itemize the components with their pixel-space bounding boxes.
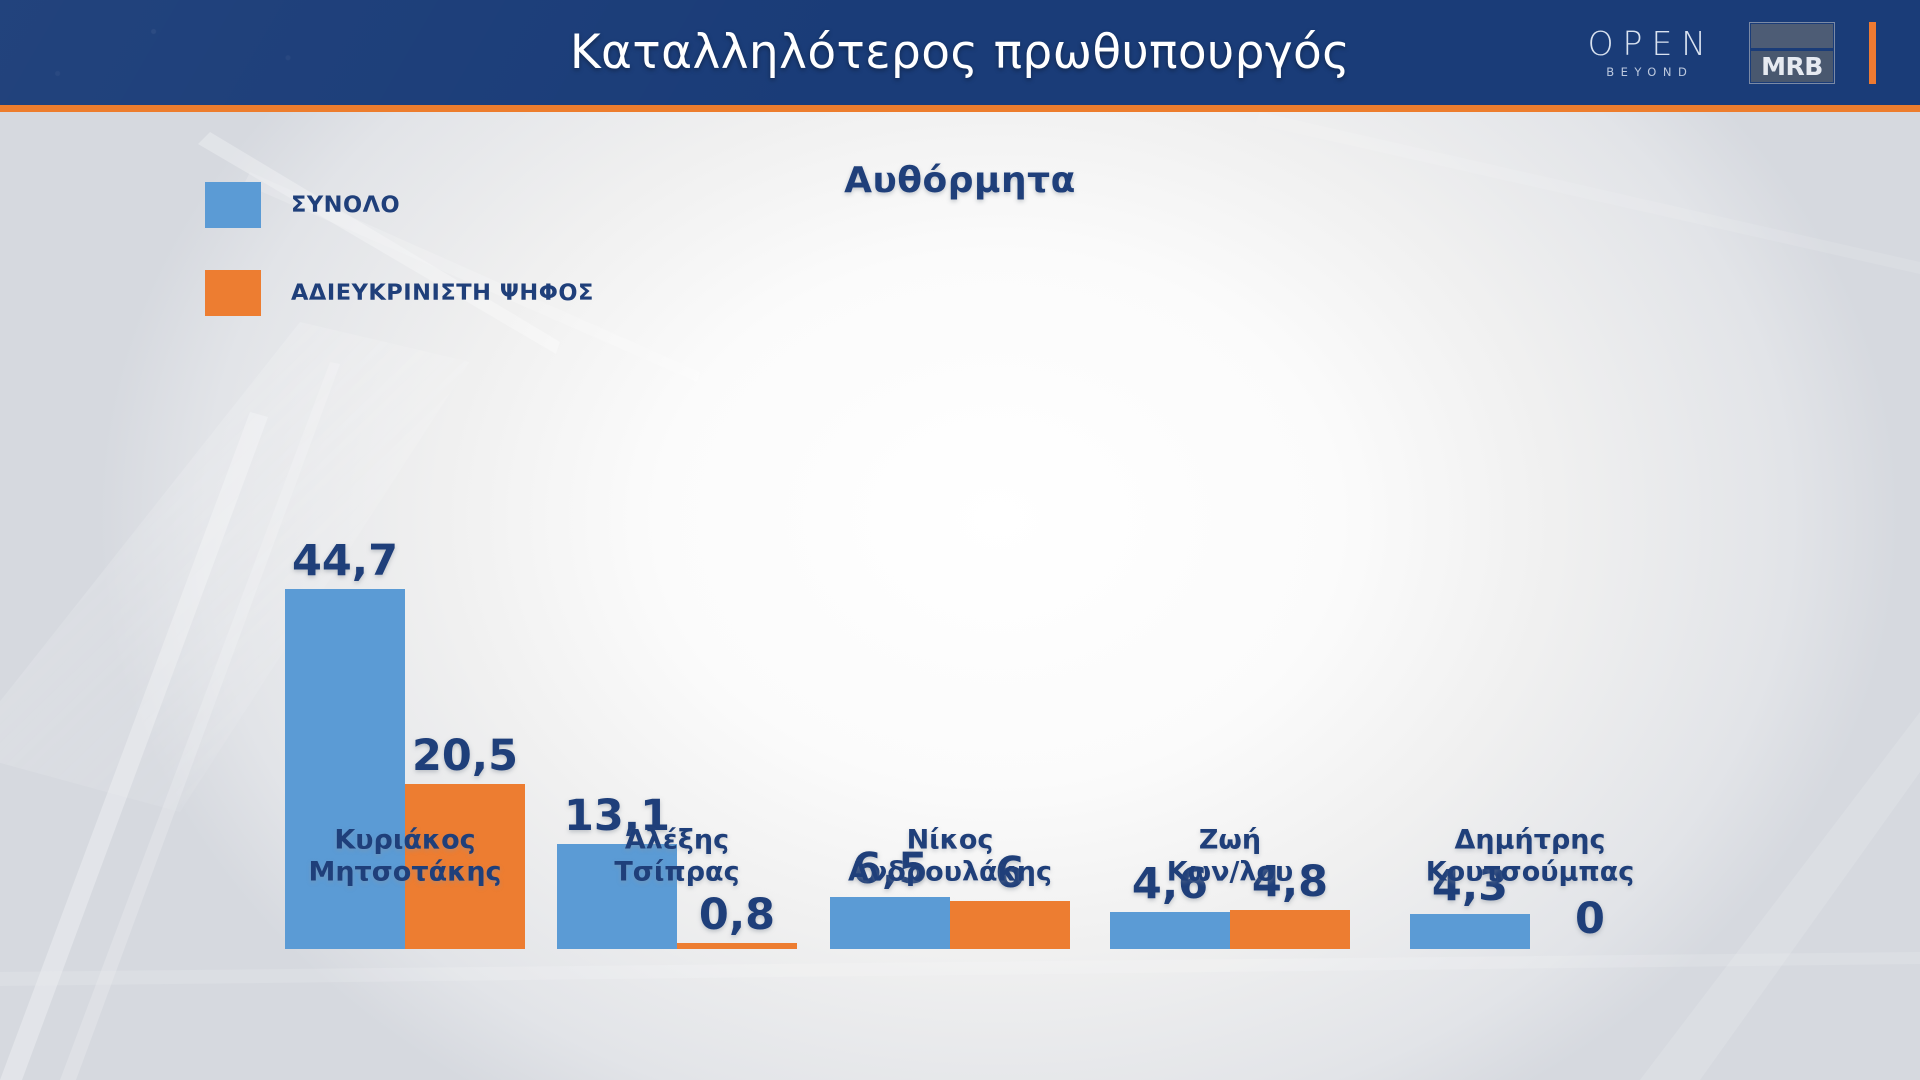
bar-synolo[interactable] xyxy=(1410,914,1530,949)
bar-group: 4,64,8Ζωή Κων/λου xyxy=(1110,910,1350,949)
mrb-logo: MRB xyxy=(1749,22,1835,84)
bar-synolo[interactable] xyxy=(285,589,405,949)
open-logo-wordmark: OPEN xyxy=(1579,27,1715,60)
category-label: Κυριάκος Μητσοτάκης xyxy=(285,818,525,889)
open-logo-tagline: BEYOND xyxy=(1600,67,1693,79)
bar-synolo[interactable] xyxy=(830,897,950,949)
mrb-logo-text: MRB xyxy=(1761,54,1823,79)
header-bar: Καταλληλότερος πρωθυπουργός OPEN BEYOND … xyxy=(0,0,1920,112)
category-label: Αλέξης Τσίπρας xyxy=(557,818,797,889)
bar-wrapper: 44,7 xyxy=(285,589,405,949)
poll-graphic-screen: Καταλληλότερος πρωθυπουργός OPEN BEYOND … xyxy=(0,0,1920,1080)
bar-adieykrinisti[interactable] xyxy=(677,943,797,949)
bar-group: 44,720,5Κυριάκος Μητσοτάκης xyxy=(285,589,525,949)
bar-value-label: 20,5 xyxy=(412,735,518,778)
logo-group: OPEN BEYOND MRB xyxy=(1579,0,1876,105)
bar-adieykrinisti[interactable] xyxy=(950,901,1070,949)
chart-canvas: Αυθόρμητα ΣΥΝΟΛΟ ΑΔΙΕΥΚΡΙΝΙΣΤΗ ΨΗΦΟΣ 44,… xyxy=(0,112,1920,1080)
category-label: Δημήτρης Κουτσούμπας xyxy=(1410,818,1650,889)
bar-wrapper: 4,8 xyxy=(1230,910,1350,949)
category-label: Νίκος Ανδρουλάκης xyxy=(830,818,1070,889)
mrb-logo-top-block xyxy=(1751,24,1833,48)
mrb-logo-bottom-block: MRB xyxy=(1751,51,1833,82)
bar-value-label: 0,8 xyxy=(699,894,775,937)
bar-wrapper: 6 xyxy=(950,901,1070,949)
bar-plot-area: 44,720,5Κυριάκος Μητσοτάκης13,10,8Αλέξης… xyxy=(0,112,1920,1080)
bar-wrapper: 6,5 xyxy=(830,897,950,949)
bar-wrapper: 0,8 xyxy=(677,943,797,949)
bar-value-label: 0 xyxy=(1575,898,1605,941)
open-beyond-logo: OPEN BEYOND xyxy=(1579,27,1715,79)
bar-value-label: 44,7 xyxy=(292,540,398,583)
bar-wrapper: 4,3 xyxy=(1410,914,1530,949)
bar-group: 13,10,8Αλέξης Τσίπρας xyxy=(557,844,797,949)
bar-adieykrinisti[interactable] xyxy=(1230,910,1350,949)
bar-group: 6,56Νίκος Ανδρουλάκης xyxy=(830,897,1070,949)
orange-accent-bar-icon xyxy=(1869,22,1876,84)
category-label: Ζωή Κων/λου xyxy=(1110,818,1350,889)
bar-synolo[interactable] xyxy=(1110,912,1230,949)
bar-wrapper: 4,6 xyxy=(1110,912,1230,949)
bar-group: 4,30Δημήτρης Κουτσούμπας xyxy=(1410,914,1650,949)
